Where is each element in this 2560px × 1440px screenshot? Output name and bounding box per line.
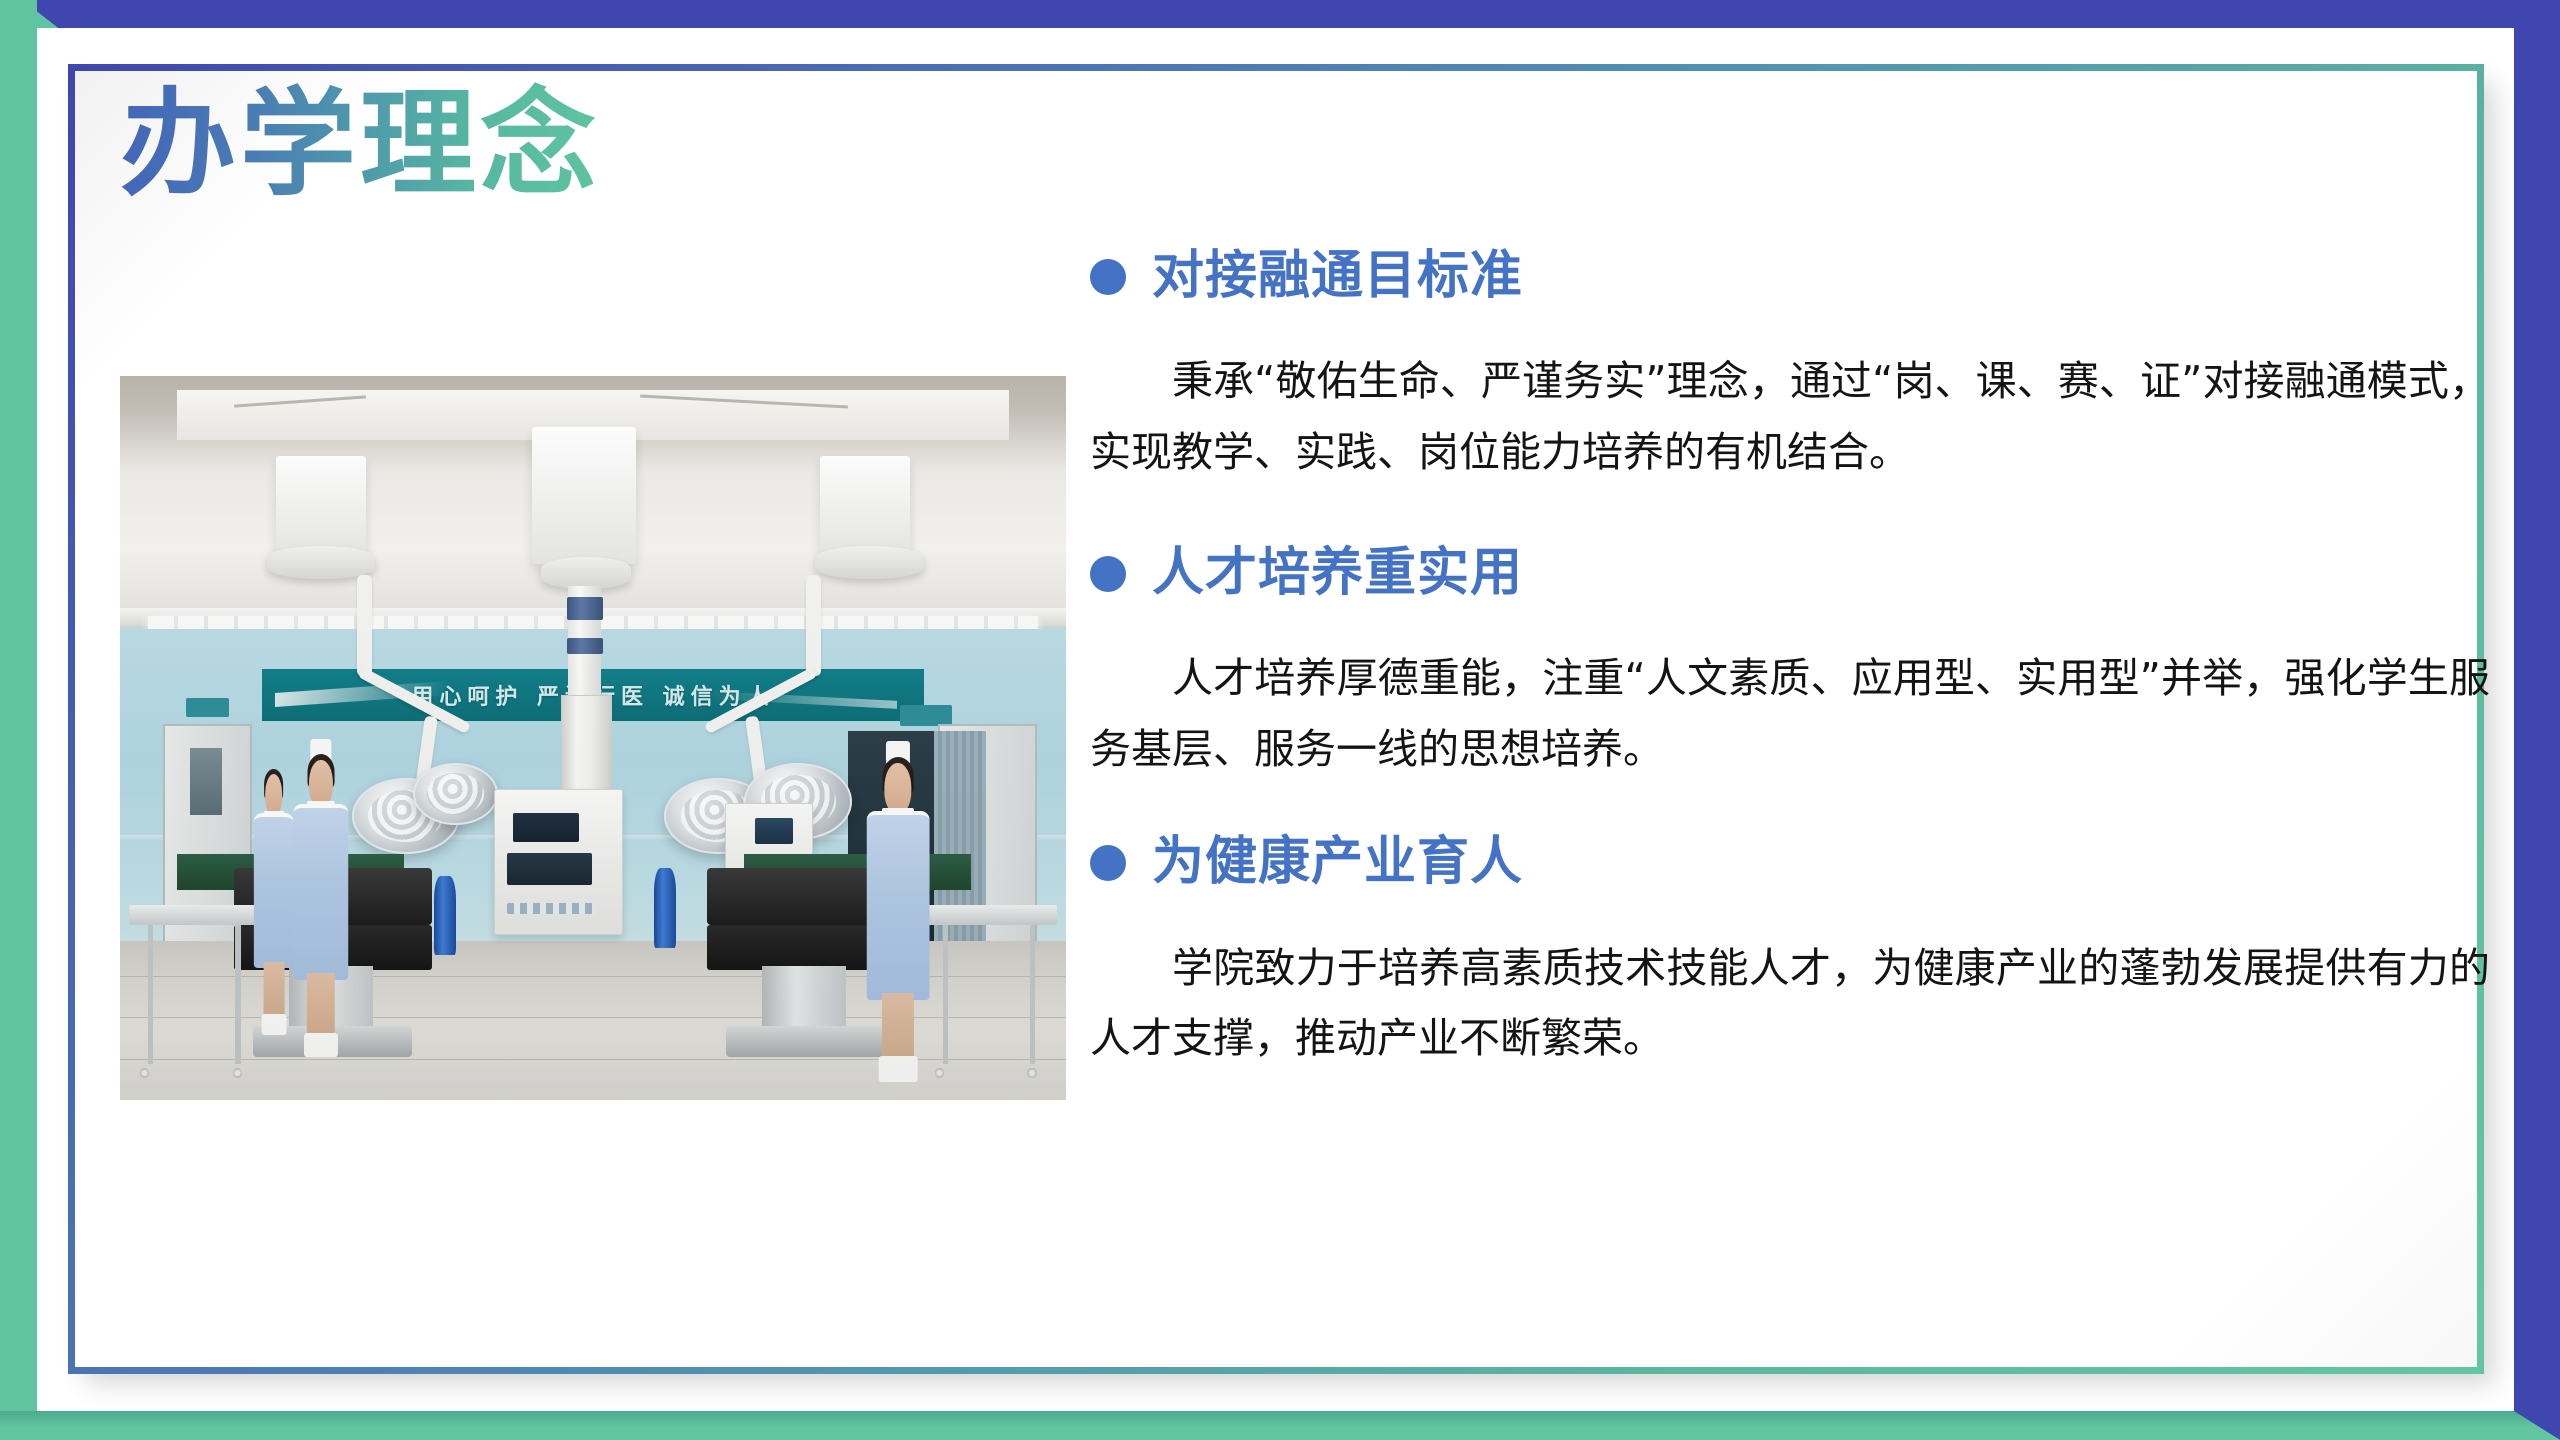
- oxygen-cylinder: [434, 876, 456, 956]
- section-title: 对接融通目标准: [1152, 248, 1523, 305]
- photo-operating-room: 用心呵护 严谨行医 诚信为人: [120, 376, 1066, 1100]
- instrument-trolley: [129, 905, 261, 1079]
- ceiling-pendant-housing: [276, 456, 366, 557]
- student-nurse: [858, 763, 938, 1082]
- section-title: 人才培养重实用: [1152, 545, 1523, 602]
- table-column: [762, 966, 845, 1030]
- section-body: 学院致力于培养高素质技术技能人才，为健康产业的蓬勃发展提供有力的人才支撑，推动产…: [1090, 933, 2490, 1074]
- section-body: 秉承“敬佑生命、严谨务实”理念，通过“岗、课、赛、证”对接融通模式，实现教学、实…: [1090, 346, 2490, 487]
- trolley-wheel: [233, 1068, 242, 1078]
- shoes: [879, 1056, 918, 1081]
- instrument-trolley: [924, 905, 1056, 1079]
- section-heading: 人才培养重实用: [1090, 545, 2490, 602]
- door-window: [190, 748, 222, 815]
- pendant-joint: [567, 597, 604, 620]
- head: [309, 760, 333, 807]
- trolley-top: [129, 905, 261, 926]
- ceiling-mount-disc: [541, 557, 631, 589]
- head: [884, 763, 911, 814]
- filled-circle-bullet-icon: [1090, 556, 1126, 592]
- surgical-light-arm: [806, 575, 821, 676]
- frame-bar-bottom: [0, 1411, 2560, 1440]
- section-docking-integration: 对接融通目标准 秉承“敬佑生命、严谨务实”理念，通过“岗、课、赛、证”对接融通模…: [1090, 248, 2490, 487]
- trolley-wheel: [1027, 1068, 1036, 1078]
- head: [265, 774, 283, 816]
- content-column: 对接融通目标准 秉承“敬佑生命、严谨务实”理念，通过“岗、课、赛、证”对接融通模…: [1090, 248, 2490, 1115]
- frame-bar-left: [0, 0, 37, 1440]
- legs: [307, 973, 335, 1032]
- pendant-joint: [567, 638, 604, 654]
- trolley-leg: [943, 925, 948, 1064]
- oxygen-cylinder: [654, 868, 676, 948]
- anesthesia-machine-center: [494, 789, 624, 936]
- ceiling-mount-disc: [815, 546, 924, 579]
- page-title: 办学理念: [120, 78, 600, 211]
- legs: [882, 993, 914, 1057]
- sign-waste-passage: [186, 698, 229, 717]
- trolley-leg: [148, 925, 153, 1064]
- trolley-wheel: [140, 1068, 149, 1078]
- surgical-lamp: [413, 763, 497, 825]
- section-heading: 为健康产业育人: [1090, 834, 2490, 891]
- trolley-top: [924, 905, 1056, 926]
- shoes: [261, 1014, 286, 1035]
- control-panel: [507, 903, 596, 915]
- frame-bar-right: [2514, 0, 2560, 1440]
- trolley-leg: [1030, 925, 1035, 1064]
- frame-bar-top: [0, 0, 2560, 28]
- photo-canvas: 用心呵护 严谨行医 诚信为人: [120, 376, 1066, 1100]
- uniform: [293, 804, 348, 980]
- section-talent-practical: 人才培养重实用 人才培养厚德重能，注重“人文素质、应用型、实用型”并举，强化学生…: [1090, 545, 2490, 784]
- filled-circle-bullet-icon: [1090, 845, 1126, 881]
- shoes: [304, 1033, 338, 1057]
- monitor-screen: [507, 853, 591, 885]
- section-health-industry: 为健康产业育人 学院致力于培养高素质技术技能人才，为健康产业的蓬勃发展提供有力的…: [1090, 834, 2490, 1073]
- surgical-light-arm: [357, 575, 372, 676]
- filled-circle-bullet-icon: [1090, 259, 1126, 295]
- ceiling-pendant-housing: [532, 427, 636, 565]
- student-nurse: [286, 760, 357, 1057]
- ceiling-pendant-housing: [820, 456, 910, 557]
- section-heading: 对接融通目标准: [1090, 248, 2490, 305]
- section-title: 为健康产业育人: [1152, 834, 1523, 891]
- section-body: 人才培养厚德重能，注重“人文素质、应用型、实用型”并举，强化学生服务基层、服务一…: [1090, 643, 2490, 784]
- monitor-screen: [513, 813, 579, 842]
- trolley-leg: [235, 925, 240, 1064]
- slide-canvas: 办学理念 用心呵护 严谨行医 诚信为人: [0, 0, 2560, 1440]
- legs: [263, 962, 284, 1014]
- uniform: [867, 811, 930, 1000]
- monitor-screen: [755, 818, 792, 843]
